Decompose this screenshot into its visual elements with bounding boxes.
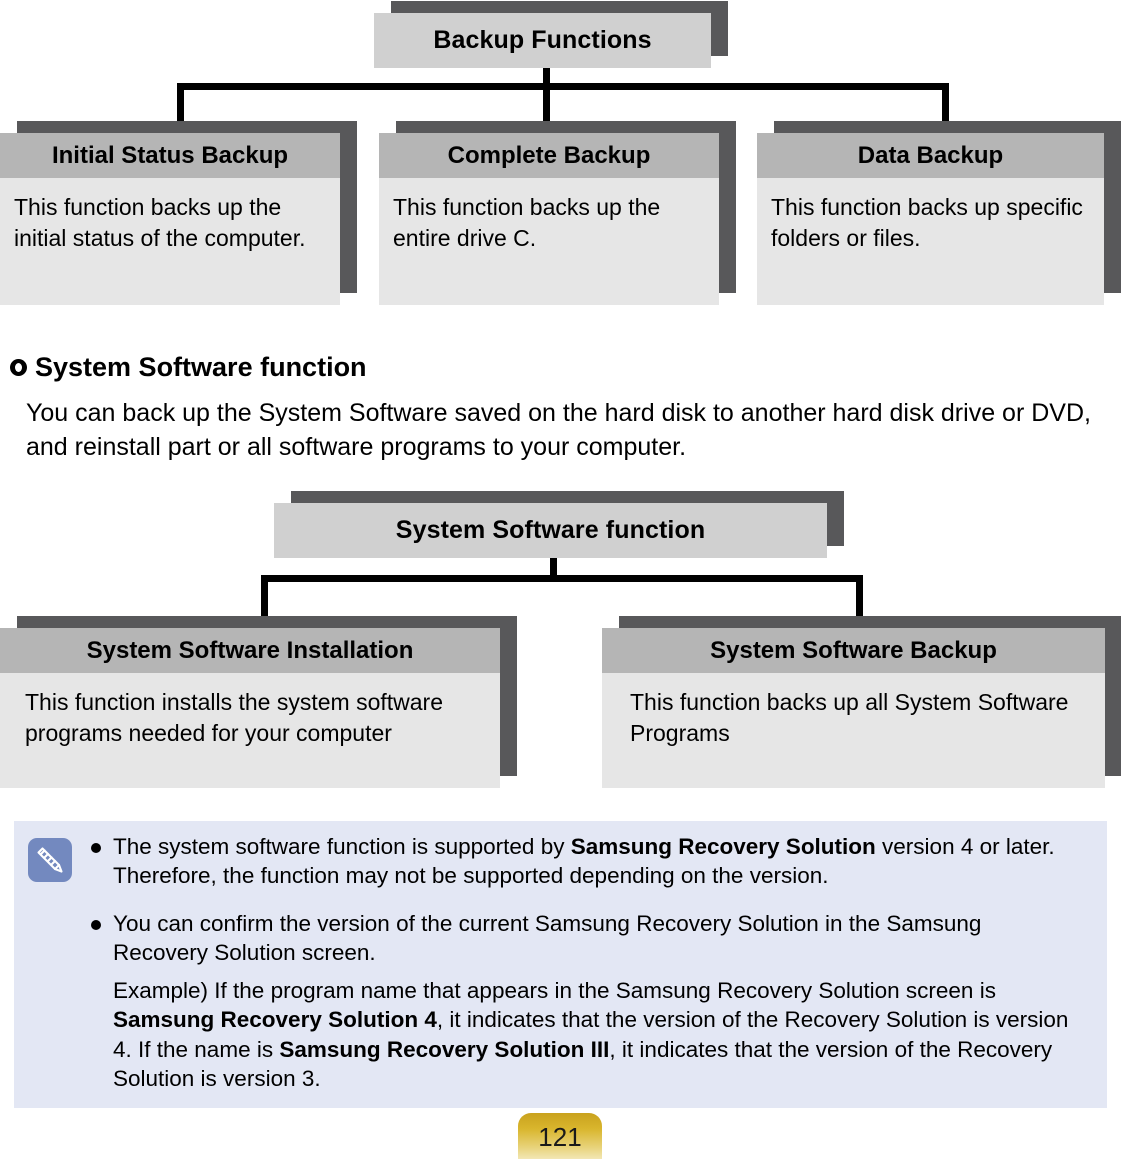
connector-drop-left: [177, 83, 184, 121]
note-bullet-1-text-b: Samsung Recovery Solution: [571, 834, 876, 859]
page-number-tab: 121: [518, 1113, 602, 1159]
note-example-paragraph: Example) If the program name that appear…: [89, 976, 1071, 1094]
box-bevel-bottom-right: [827, 558, 844, 570]
box-bevel-top-left: [0, 121, 17, 133]
note-bullet-1: The system software function is supporte…: [89, 832, 1071, 891]
card-title: System Software Backup: [602, 628, 1105, 673]
connector-drop-center: [543, 83, 550, 121]
box-face: Data Backup This function backs up speci…: [757, 133, 1104, 305]
bullet-dot-icon: [91, 843, 101, 853]
note-example-text-d: Samsung Recovery Solution III: [279, 1037, 609, 1062]
card-data-backup: Data Backup This function backs up speci…: [757, 133, 1104, 305]
connector-drop-right: [942, 83, 949, 121]
box-bevel-bottom-right: [500, 788, 517, 800]
note-example-text-b: Samsung Recovery Solution 4: [113, 1007, 437, 1032]
note-panel: The system software function is supporte…: [14, 821, 1107, 1108]
card-description: This function backs up the initial statu…: [0, 178, 340, 253]
card-title: System Software Installation: [0, 628, 500, 673]
note-content: The system software function is supporte…: [89, 832, 1071, 1094]
connector-horizontal-bus: [181, 83, 949, 90]
page-number: 121: [538, 1113, 581, 1153]
box-face: Backup Functions: [374, 13, 711, 68]
box-bevel-bottom-right: [1104, 305, 1121, 317]
backup-functions-root-box: Backup Functions: [374, 13, 711, 68]
box-bevel-top-left: [0, 616, 17, 628]
backup-functions-root-title: Backup Functions: [433, 26, 651, 55]
note-bullet-2-text: You can confirm the version of the curre…: [113, 911, 981, 965]
bullet-ring-icon: [10, 359, 27, 376]
connector-horizontal-bus-2: [264, 575, 862, 582]
system-software-root-title: System Software function: [396, 516, 705, 545]
note-example-text-a: Example) If the program name that appear…: [113, 978, 996, 1003]
box-face: System Software Backup This function bac…: [602, 628, 1105, 788]
box-bevel-top-left: [274, 491, 291, 503]
card-system-software-installation: System Software Installation This functi…: [0, 628, 500, 788]
card-title: Initial Status Backup: [0, 133, 340, 178]
section-heading: System Software function: [10, 352, 367, 383]
section-paragraph: You can back up the System Software save…: [26, 397, 1096, 464]
card-description: This function backs up specific folders …: [757, 178, 1104, 253]
box-face: System Software Installation This functi…: [0, 628, 500, 788]
section-heading-label: System Software function: [35, 352, 367, 383]
card-title: Data Backup: [757, 133, 1104, 178]
pencil-note-icon: [28, 838, 72, 882]
card-system-software-backup: System Software Backup This function bac…: [602, 628, 1105, 788]
box-face: System Software function: [274, 503, 827, 558]
box-face: Complete Backup This function backs up t…: [379, 133, 719, 305]
box-bevel-top-left: [757, 121, 774, 133]
box-bevel-bottom-right: [340, 305, 357, 317]
bullet-dot-icon: [91, 920, 101, 930]
box-bevel-bottom-right: [711, 68, 728, 80]
box-bevel-top-left: [602, 616, 619, 628]
card-description: This function installs the system softwa…: [0, 673, 500, 748]
note-bullet-2: You can confirm the version of the curre…: [89, 909, 1071, 968]
box-face: Initial Status Backup This function back…: [0, 133, 340, 305]
box-bevel-bottom-right: [1105, 788, 1121, 800]
box-bevel-bottom-right: [719, 305, 736, 317]
box-bevel-top-left: [379, 121, 396, 133]
system-software-root-box: System Software function: [274, 503, 827, 558]
card-title: Complete Backup: [379, 133, 719, 178]
card-description: This function backs up the entire drive …: [379, 178, 719, 253]
card-initial-status-backup: Initial Status Backup This function back…: [0, 133, 340, 305]
note-bullet-1-text-a: The system software function is supporte…: [113, 834, 571, 859]
connector-drop-left-2: [261, 575, 268, 616]
connector-drop-right-2: [856, 575, 863, 616]
box-bevel-top-left: [374, 1, 391, 13]
card-description: This function backs up all System Softwa…: [602, 673, 1105, 748]
card-complete-backup: Complete Backup This function backs up t…: [379, 133, 719, 305]
